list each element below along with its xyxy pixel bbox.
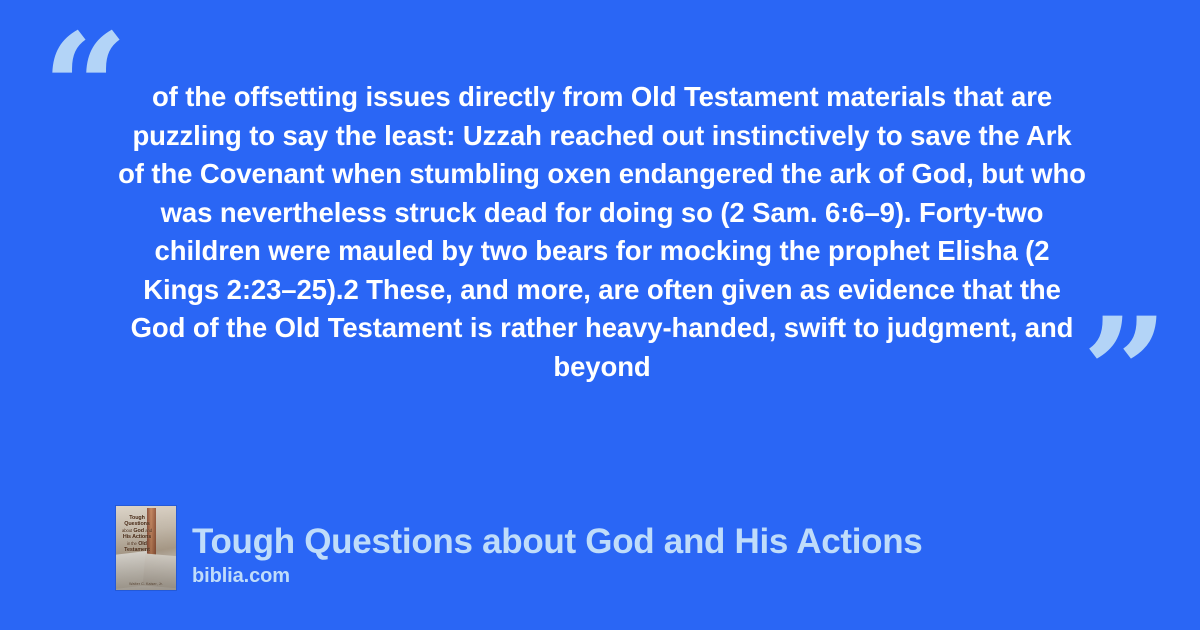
attribution-text-group: Tough Questions about God and His Action… xyxy=(192,522,922,590)
book-cover-author-text: Walter C. Kaiser, Jr. xyxy=(116,582,176,586)
book-title: Tough Questions about God and His Action… xyxy=(192,522,922,562)
book-cover-title-text: Tough Questions about God and His Action… xyxy=(121,515,153,553)
book-cover-title-line-5: and xyxy=(145,528,152,533)
book-cover-title-line-10: Testament xyxy=(124,547,150,553)
book-cover-title-line-6: His xyxy=(123,534,131,540)
source-site: biblia.com xyxy=(192,563,922,589)
book-cover-title-line-3: about xyxy=(122,528,132,533)
attribution-footer: Tough Questions about God and His Action… xyxy=(116,506,922,590)
book-cover-thumbnail: Tough Questions about God and His Action… xyxy=(116,506,176,590)
book-cover-title-line-4: God xyxy=(133,528,143,534)
book-cover-title-line-2: Questions xyxy=(124,521,149,527)
close-quote-icon: ” xyxy=(1082,298,1168,448)
book-cover-title-line-7: Actions xyxy=(132,534,151,540)
book-cover-title-line-8: in the xyxy=(127,541,137,546)
quote-card: “ ” of the offsetting issues directly fr… xyxy=(0,0,1200,630)
book-cover-title-line-9: Old xyxy=(138,541,147,547)
quote-text: of the offsetting issues directly from O… xyxy=(118,78,1086,386)
open-quote-icon: “ xyxy=(42,14,128,164)
